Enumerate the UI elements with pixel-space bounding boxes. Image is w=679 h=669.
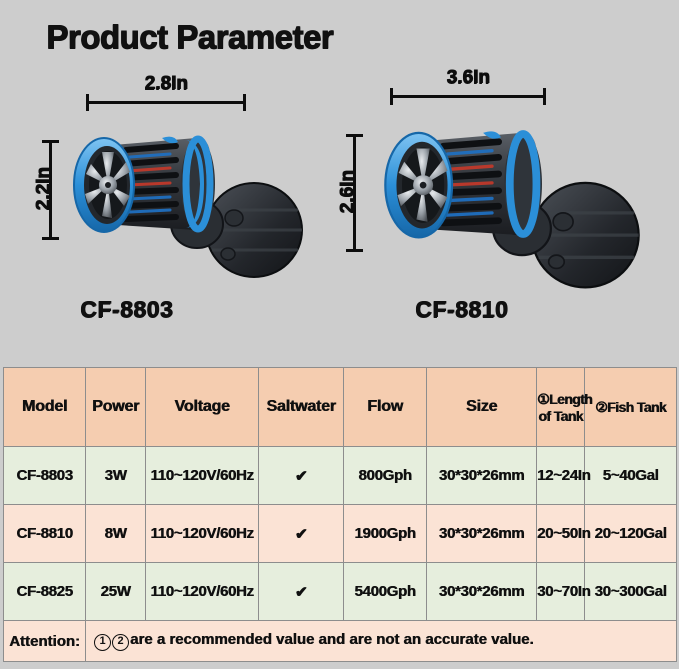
product-card-1: 3.6In 2.6In — [330, 62, 675, 340]
column-header-fish-tank: ②Fish Tank — [585, 368, 677, 447]
dimension-line — [86, 101, 246, 104]
column-header-saltwater: Saltwater — [259, 368, 344, 447]
cell-flow: 1900Gph — [344, 505, 427, 563]
pump-impeller — [74, 138, 134, 232]
product-0-name: CF-8803 — [80, 296, 173, 323]
cell-fish-tank: 30~300Gal — [585, 563, 677, 621]
cell-saltwater-check: ✔ — [259, 447, 344, 505]
cell-fish-tank: 5~40Gal — [585, 447, 677, 505]
cell-power: 25W — [86, 563, 146, 621]
attention-note-text: are a recommended value and are not an a… — [130, 631, 534, 648]
column-header-power: Power — [86, 368, 146, 447]
cell-size: 30*30*26mm — [427, 505, 537, 563]
cell-length-of-tank: 12~24In — [537, 447, 585, 505]
product-spec-table: Model Power Voltage Saltwater Flow Size … — [3, 367, 677, 662]
table-header-row: Model Power Voltage Saltwater Flow Size … — [4, 368, 677, 447]
dimension-line — [390, 95, 546, 98]
cell-model: CF-8810 — [4, 505, 86, 563]
column-header-voltage: Voltage — [146, 368, 259, 447]
product-0-width-label: 2.8In — [86, 73, 246, 95]
cell-flow: 800Gph — [344, 447, 427, 505]
table-row: CF-8803 3W 110~120V/60Hz ✔ 800Gph 30*30*… — [4, 447, 677, 505]
cell-voltage: 110~120V/60Hz — [146, 447, 259, 505]
cell-model: CF-8803 — [4, 447, 86, 505]
pump-impeller — [385, 133, 452, 237]
cell-power: 8W — [86, 505, 146, 563]
cell-voltage: 110~120V/60Hz — [146, 505, 259, 563]
cell-model: CF-8825 — [4, 563, 86, 621]
product-showcase: 2.8In 2.2In — [0, 62, 679, 340]
dimension-line — [49, 140, 52, 240]
attention-note: 12are a recommended value and are not an… — [86, 621, 677, 662]
column-header-flow: Flow — [344, 368, 427, 447]
cell-voltage: 110~120V/60Hz — [146, 563, 259, 621]
product-1-width-dimension: 3.6In — [390, 86, 546, 106]
product-1-width-label: 3.6In — [390, 67, 546, 89]
dimension-endcap-bottom — [346, 249, 363, 252]
marker-one-icon: 1 — [94, 634, 111, 651]
dimension-endcap-left — [390, 88, 393, 105]
dimension-endcap-bottom — [42, 237, 59, 240]
cell-fish-tank: 20~120Gal — [585, 505, 677, 563]
cell-length-of-tank: 30~70In — [537, 563, 585, 621]
product-card-0: 2.8In 2.2In — [28, 62, 328, 340]
dimension-endcap-top — [42, 140, 59, 143]
attention-label: Attention: — [4, 621, 86, 662]
marker-two-icon: 2 — [112, 634, 129, 651]
cell-length-of-tank: 20~50In — [537, 505, 585, 563]
cell-size: 30*30*26mm — [427, 447, 537, 505]
dimension-line — [353, 134, 356, 252]
cell-flow: 5400Gph — [344, 563, 427, 621]
product-1-name: CF-8810 — [415, 296, 508, 323]
column-header-size: Size — [427, 368, 537, 447]
page-title: Product Parameter — [46, 18, 333, 56]
product-0-width-dimension: 2.8In — [86, 92, 246, 112]
wave-pump-icon — [362, 104, 662, 304]
cell-size: 30*30*26mm — [427, 563, 537, 621]
dimension-endcap-right — [243, 94, 246, 111]
dimension-endcap-top — [346, 134, 363, 137]
cell-power: 3W — [86, 447, 146, 505]
cell-saltwater-check: ✔ — [259, 505, 344, 563]
product-0-height-dimension: 2.2In — [40, 140, 60, 240]
table-row: CF-8825 25W 110~120V/60Hz ✔ 5400Gph 30*3… — [4, 563, 677, 621]
dimension-endcap-left — [86, 94, 89, 111]
column-header-length-of-tank: ①Length of Tank — [537, 368, 585, 447]
table-footer-row: Attention: 12are a recommended value and… — [4, 621, 677, 662]
dimension-endcap-right — [543, 88, 546, 105]
column-header-model: Model — [4, 368, 86, 447]
table-row: CF-8810 8W 110~120V/60Hz ✔ 1900Gph 30*30… — [4, 505, 677, 563]
cell-saltwater-check: ✔ — [259, 563, 344, 621]
wave-pump-icon — [58, 112, 318, 292]
product-1-height-dimension: 2.6In — [344, 134, 364, 252]
